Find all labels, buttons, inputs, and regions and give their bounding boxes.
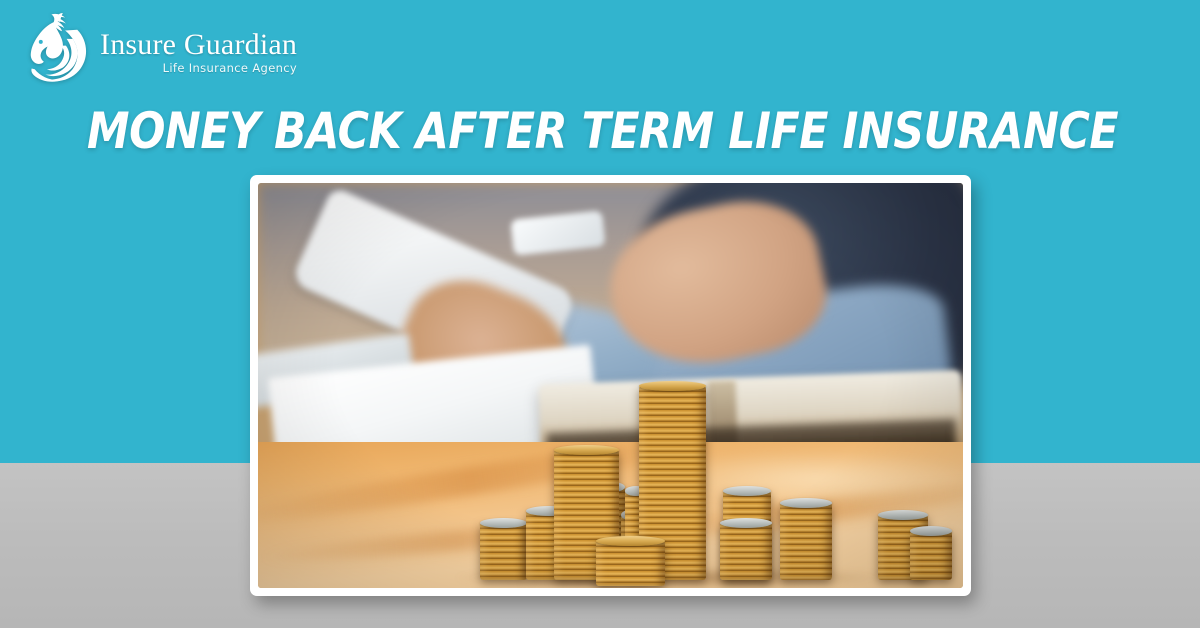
page-title: MONEY BACK AFTER TERM LIFE INSURANCE	[87, 102, 1113, 160]
logo-company-name: Insure Guardian	[100, 30, 297, 60]
photo-coin-stack	[480, 523, 527, 580]
photo-coin-stack	[780, 503, 832, 580]
hero-photo-card	[250, 175, 971, 596]
photo-coin-stack	[910, 531, 952, 580]
photo-coin-stack	[596, 541, 665, 586]
brand-logo[interactable]: Insure Guardian Life Insurance Agency	[18, 10, 348, 92]
photo-coin-stack	[720, 523, 772, 580]
hero-photo	[258, 183, 963, 588]
logo-tagline: Life Insurance Agency	[163, 62, 297, 76]
horse-head-icon	[18, 13, 94, 89]
banner-canvas: Insure Guardian Life Insurance Agency MO…	[0, 0, 1200, 628]
